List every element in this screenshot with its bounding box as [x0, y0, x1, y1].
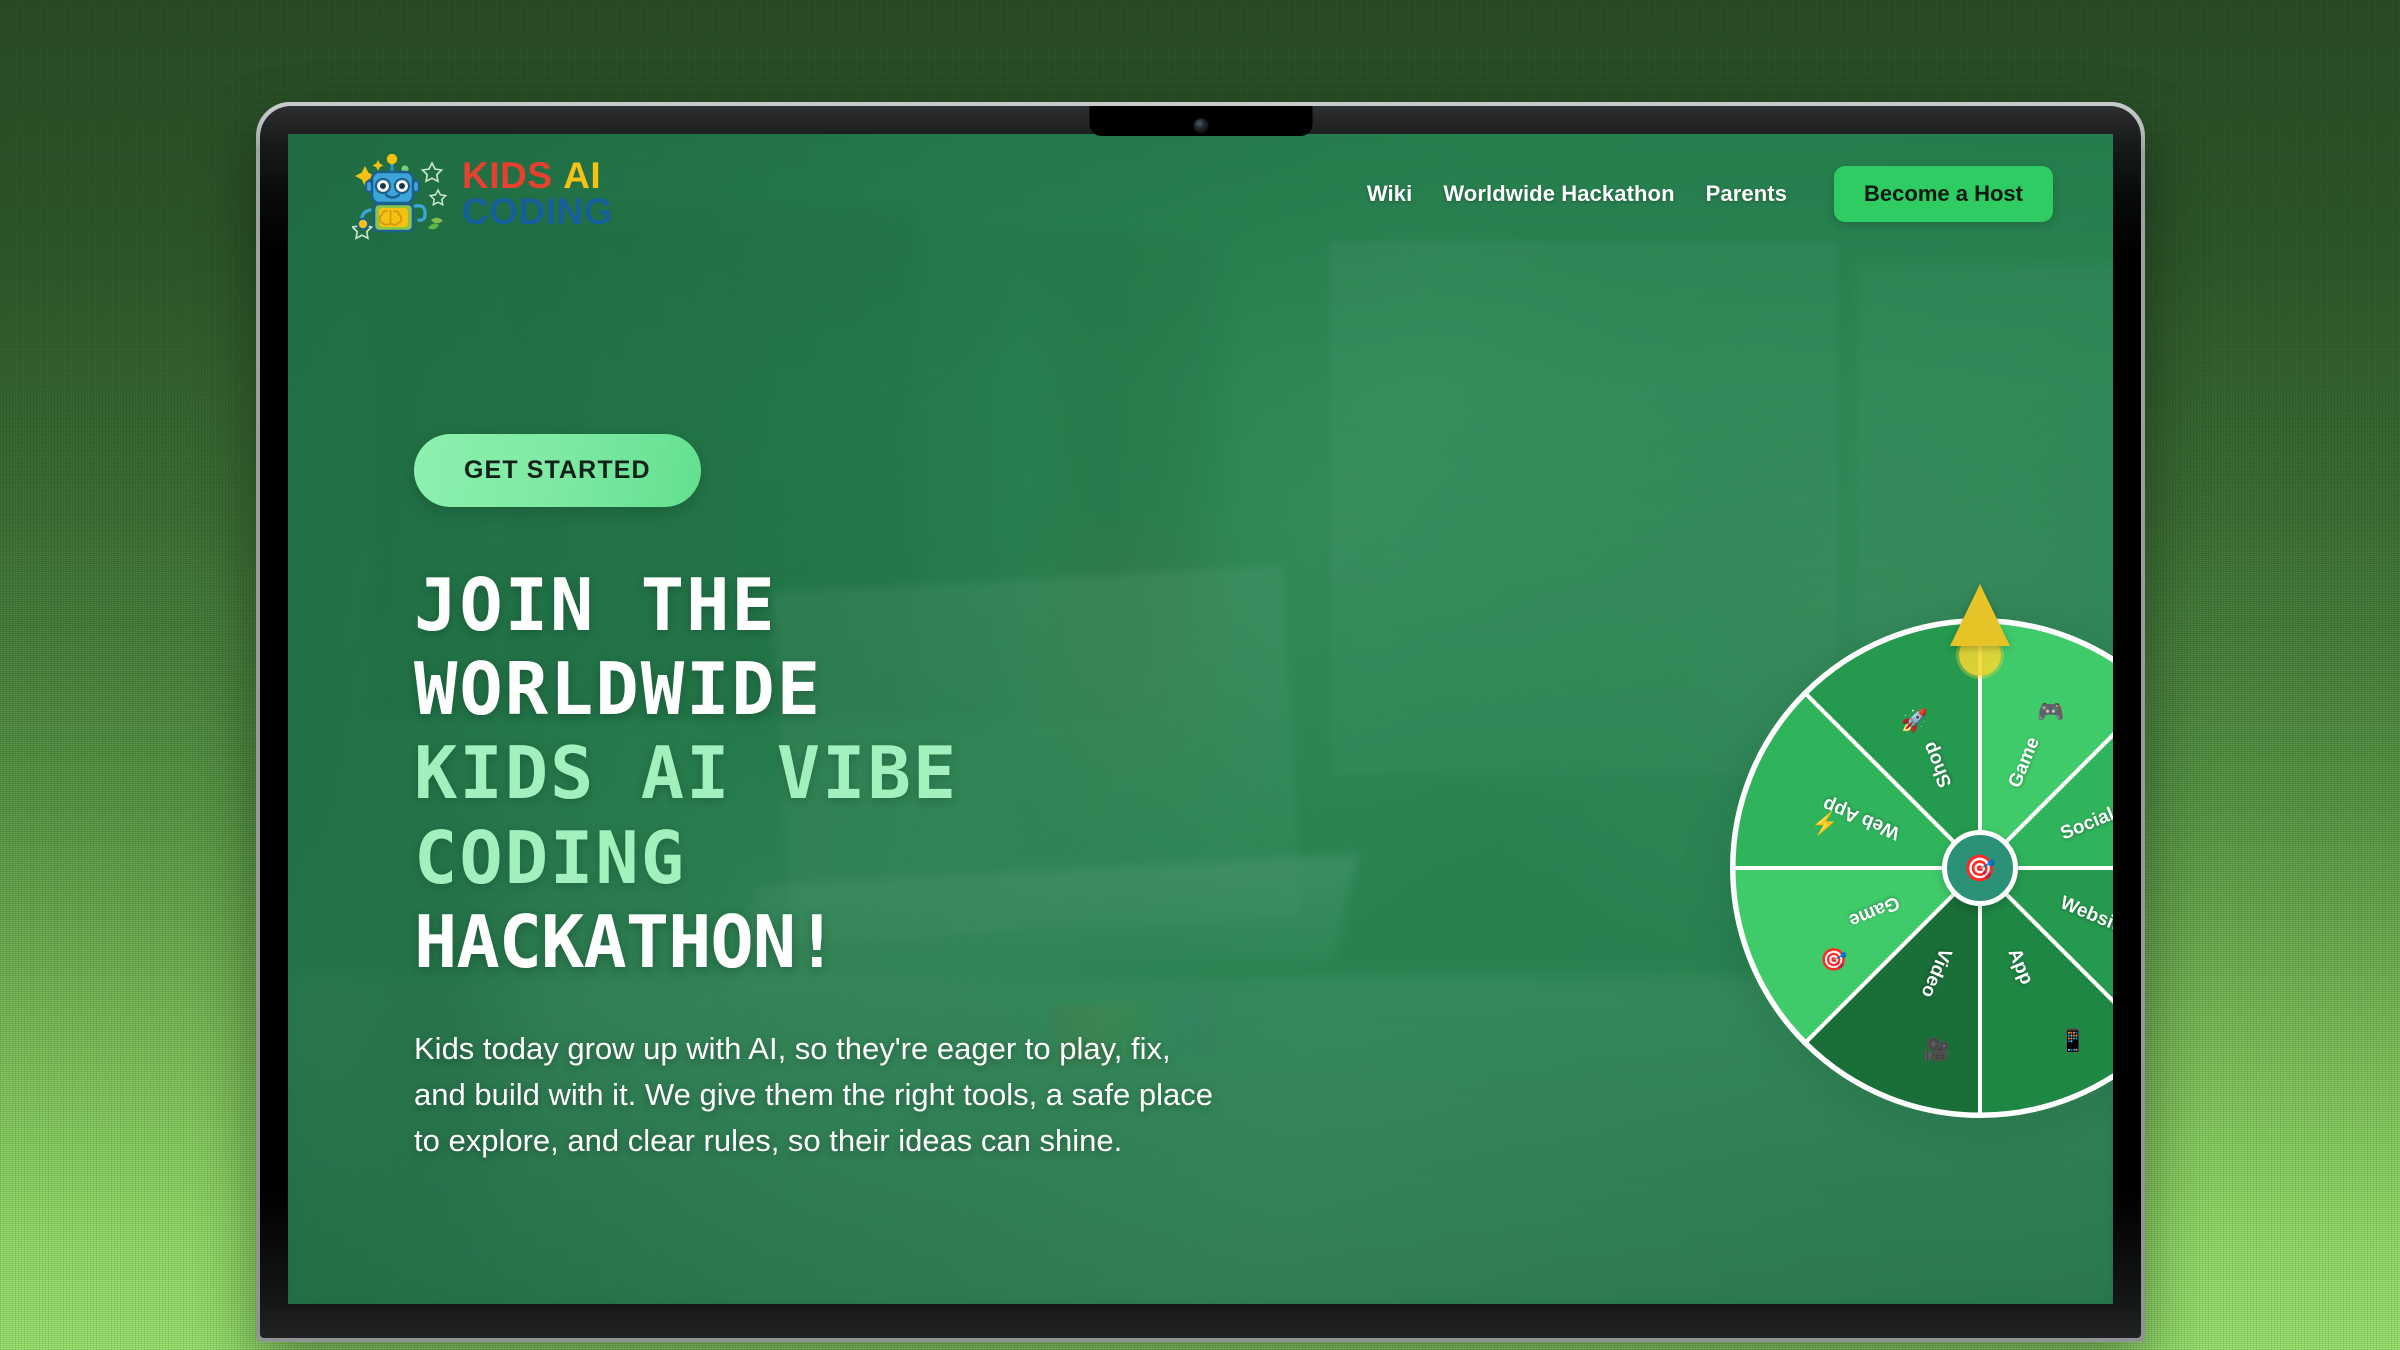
site-logo[interactable]: KIDS AI CODING: [352, 148, 613, 240]
main-navigation: Wiki Worldwide Hackathon Parents Become …: [1367, 166, 2053, 222]
logo-text-kids: KIDS: [462, 155, 552, 196]
wheel-segments[interactable]: [1730, 618, 2113, 1118]
hero-headline: JOIN THE WORLDWIDE KIDS AI VIBE CODING H…: [414, 563, 1314, 984]
nav-link-parents[interactable]: Parents: [1706, 181, 1787, 207]
dart-target-icon: 🎯: [1964, 853, 1996, 884]
logo-text-ai: AI: [563, 155, 601, 196]
headline-line-2: WORLDWIDE: [414, 647, 1314, 731]
webcam-icon: [1194, 119, 1207, 132]
laptop-bezel: KIDS AI CODING Wiki Worldwide Hackathon …: [260, 106, 2141, 1338]
nav-link-worldwide-hackathon[interactable]: Worldwide Hackathon: [1443, 181, 1674, 207]
hero-section: GET STARTED JOIN THE WORLDWIDE KIDS AI V…: [414, 434, 1314, 1164]
triangle-pointer-icon: [1950, 584, 2010, 646]
headline-line-5: HACKATHON!: [414, 900, 1314, 984]
robot-icon: [352, 148, 448, 240]
become-a-host-button[interactable]: Become a Host: [1834, 166, 2053, 222]
logo-wordmark: KIDS AI CODING: [462, 158, 613, 231]
headline-line-3: KIDS AI VIBE: [414, 731, 1314, 815]
site-header: KIDS AI CODING Wiki Worldwide Hackathon …: [288, 134, 2113, 254]
headline-line-1: JOIN THE: [414, 563, 1314, 647]
spin-wheel[interactable]: 🎯 Game🎮Social💻Website🌐App📱Video🎥Game🎯Web…: [1730, 618, 2113, 1118]
laptop-screen: KIDS AI CODING Wiki Worldwide Hackathon …: [288, 134, 2113, 1304]
wheel-hub[interactable]: 🎯: [1942, 830, 2018, 906]
get-started-button[interactable]: GET STARTED: [414, 434, 701, 507]
nav-link-wiki[interactable]: Wiki: [1367, 181, 1412, 207]
headline-line-4: CODING: [414, 816, 1314, 900]
hero-paragraph: Kids today grow up with AI, so they're e…: [414, 1026, 1224, 1164]
laptop-device-frame: KIDS AI CODING Wiki Worldwide Hackathon …: [256, 102, 2145, 1342]
logo-text-coding: CODING: [462, 194, 613, 230]
